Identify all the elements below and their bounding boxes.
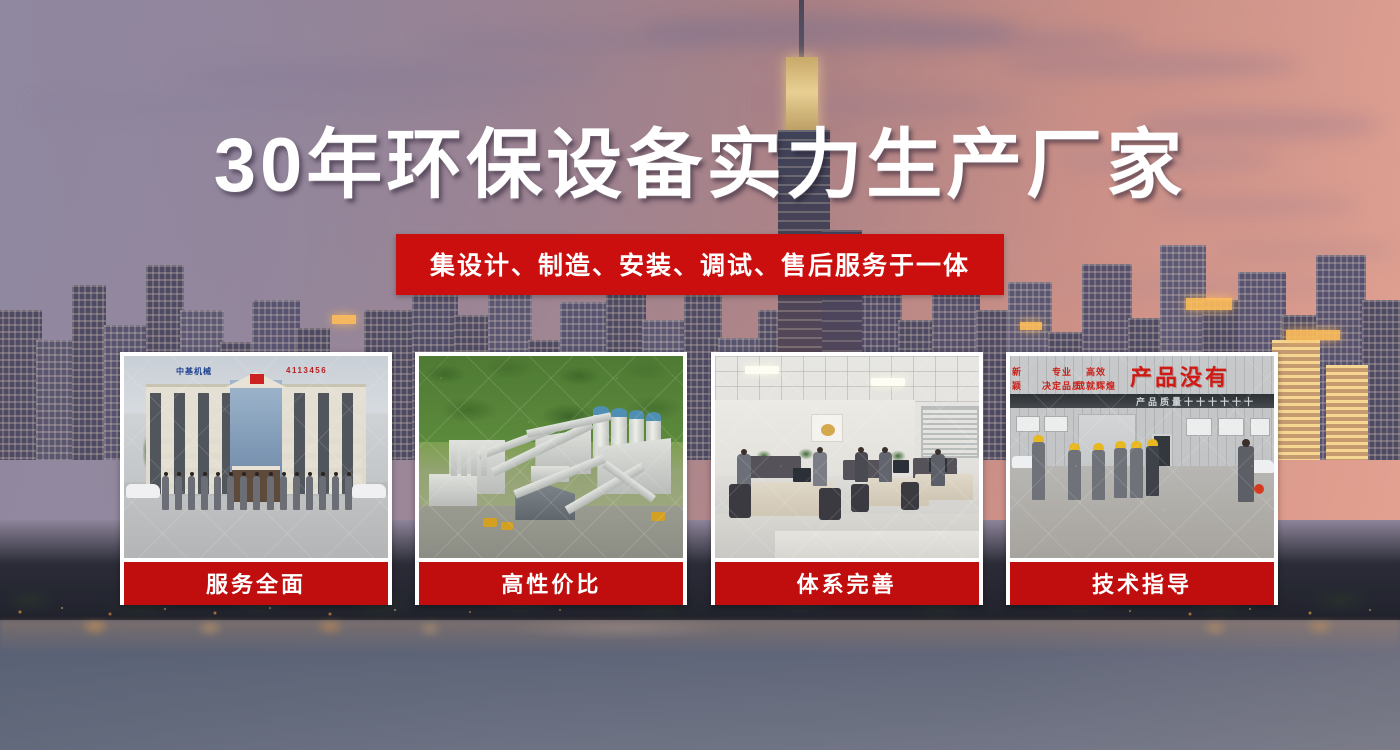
building-company-sign: 中基机械	[176, 366, 212, 377]
feature-card[interactable]: 高性价比	[415, 352, 687, 605]
staff-row	[162, 476, 352, 518]
card-caption: 高性价比	[419, 562, 683, 605]
wall-band-text: 产品质量十十十十十十	[1136, 395, 1256, 408]
flag-icon	[250, 374, 264, 384]
card-caption: 体系完善	[715, 562, 979, 605]
promo-banner: 30年环保设备实力生产厂家 集设计、制造、安装、调试、售后服务于一体 中基机械 …	[0, 0, 1400, 750]
card-photo-industrial-plant	[419, 356, 683, 558]
feature-card[interactable]: 中基机械 4113456 服务全面	[120, 352, 392, 605]
card-caption: 技术指导	[1010, 562, 1274, 605]
building-phone-sign: 4113456	[286, 366, 327, 375]
water-light-reflections	[0, 620, 1400, 654]
card-photo-worker-training: 新颖 专业决定品质 高效成就辉煌 产品没有 产品质量十十十十十十	[1010, 356, 1274, 558]
tower-spire	[799, 0, 804, 62]
card-caption: 服务全面	[124, 562, 388, 605]
wall-slogan-small-1: 新颖	[1012, 366, 1022, 393]
wall-poster	[811, 414, 843, 442]
page-title: 30年环保设备实力生产厂家	[0, 128, 1400, 204]
wall-slogan-small-3: 高效成就辉煌	[1076, 366, 1116, 393]
red-helmet-icon	[1254, 484, 1264, 494]
card-photo-office-interior	[715, 356, 979, 558]
factory-roller-door	[1078, 414, 1136, 468]
feature-card-list: 中基机械 4113456 服务全面	[120, 352, 1278, 605]
subtitle-banner: 集设计、制造、安装、调试、售后服务于一体	[396, 234, 1004, 295]
parked-car	[126, 484, 160, 498]
parked-car	[352, 484, 386, 498]
feature-card[interactable]: 体系完善	[711, 352, 983, 605]
wall-slogan-main: 产品没有	[1130, 360, 1230, 392]
feature-card[interactable]: 新颖 专业决定品质 高效成就辉煌 产品没有 产品质量十十十十十十	[1006, 352, 1278, 605]
window-blinds	[921, 406, 979, 458]
card-photo-office-building: 中基机械 4113456	[124, 356, 388, 558]
supervisor	[1238, 446, 1254, 502]
